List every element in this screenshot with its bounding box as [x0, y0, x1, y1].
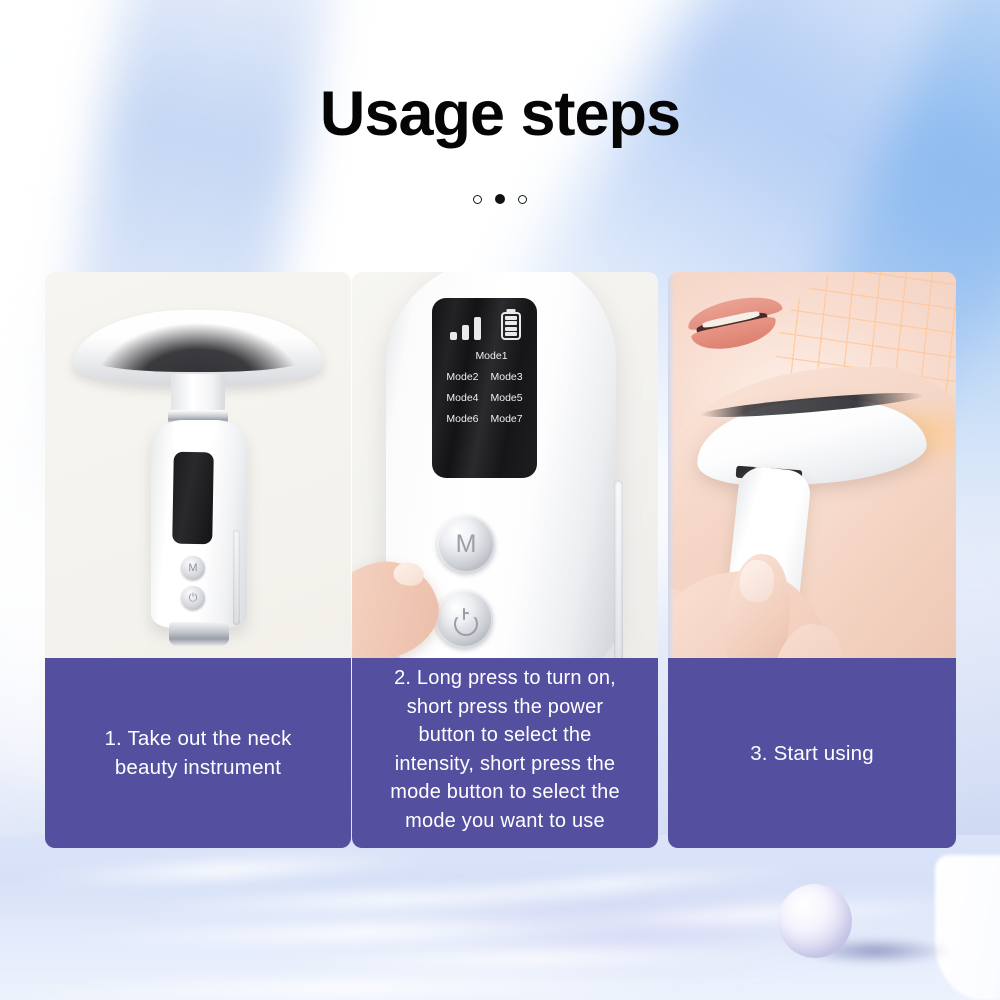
power-icon [453, 608, 475, 630]
device-power-button: ⏻ [181, 586, 205, 610]
battery-segment [505, 321, 517, 325]
steps-panel-grid: M ⏻ 1. Take out the neck beauty instrume… [0, 272, 1000, 850]
step-3-caption: 3. Start using [668, 658, 956, 848]
step-2-caption-line-1: 2. Long press to turn on, [362, 664, 648, 693]
mode-label-1: Mode1 [475, 350, 507, 362]
device-display-screen [172, 452, 214, 545]
device-metal-base [169, 622, 229, 646]
mode-button-label: M [456, 532, 477, 557]
device-display-screen: Mode1 Mode2 Mode3 Mode4 Mode5 Mode6 Mode… [432, 298, 537, 478]
mode-label-list: Mode1 Mode2 Mode3 Mode4 Mode5 Mode6 Mode… [432, 350, 537, 434]
battery-segment [505, 316, 517, 320]
mode-row: Mode6 Mode7 [432, 413, 537, 425]
intensity-bar-2 [462, 325, 469, 340]
mode-label-4: Mode4 [446, 392, 478, 404]
step-2-caption-line-5: mode button to select the [362, 778, 648, 807]
intensity-bar-1 [450, 332, 457, 340]
device-power-button [435, 590, 493, 648]
step-2-caption-line-3: button to select the [362, 721, 648, 750]
mode-label-6: Mode6 [446, 413, 478, 425]
step-2-caption: 2. Long press to turn on, short press th… [352, 658, 658, 848]
step-card-2[interactable]: Mode1 Mode2 Mode3 Mode4 Mode5 Mode6 Mode… [352, 272, 658, 848]
mode-row: Mode1 [432, 350, 537, 362]
step-2-caption-line-4: intensity, short press the [362, 750, 648, 779]
page-title: Usage steps [0, 78, 1000, 150]
device-mode-button: M [181, 556, 205, 580]
intensity-bars-icon [450, 316, 481, 340]
device-side-slot [614, 480, 623, 670]
pagination-dot-1[interactable] [473, 195, 482, 204]
step-1-caption: 1. Take out the neck beauty instrument [45, 658, 351, 848]
pagination-dot-3[interactable] [518, 195, 527, 204]
step-card-1[interactable]: M ⏻ 1. Take out the neck beauty instrume… [45, 272, 351, 848]
pagination-dot-2-active[interactable] [495, 194, 505, 204]
device-mode-button: M [437, 515, 495, 573]
neck-beauty-device: M ⏻ [73, 300, 323, 660]
step-2-caption-line-6: mode you want to use [362, 807, 648, 836]
mode-label-2: Mode2 [446, 371, 478, 383]
mode-label-7: Mode7 [491, 413, 523, 425]
step-card-3[interactable]: 3. Start using [668, 272, 956, 848]
mode-row: Mode2 Mode3 [432, 371, 537, 383]
background-sphere-prop [778, 884, 852, 958]
battery-segment [505, 327, 517, 331]
battery-segment [505, 332, 517, 336]
mode-label-5: Mode5 [491, 392, 523, 404]
lips [686, 300, 782, 348]
header: Usage steps [0, 0, 1000, 250]
step-2-caption-line-2: short press the power [362, 693, 648, 722]
step-1-caption-line-2: beauty instrument [55, 753, 341, 782]
mode-label-3: Mode3 [491, 371, 523, 383]
mode-row: Mode4 Mode5 [432, 392, 537, 404]
background-cylinder-prop [935, 855, 1000, 1000]
device-side-slot [233, 530, 240, 625]
battery-icon [501, 312, 521, 340]
step-3-caption-line-1: 3. Start using [678, 739, 946, 768]
step-1-caption-line-1: 1. Take out the neck [55, 724, 341, 753]
intensity-bar-3 [474, 317, 481, 340]
device-head-black-rim [77, 312, 319, 372]
carousel-pagination[interactable] [0, 194, 1000, 204]
